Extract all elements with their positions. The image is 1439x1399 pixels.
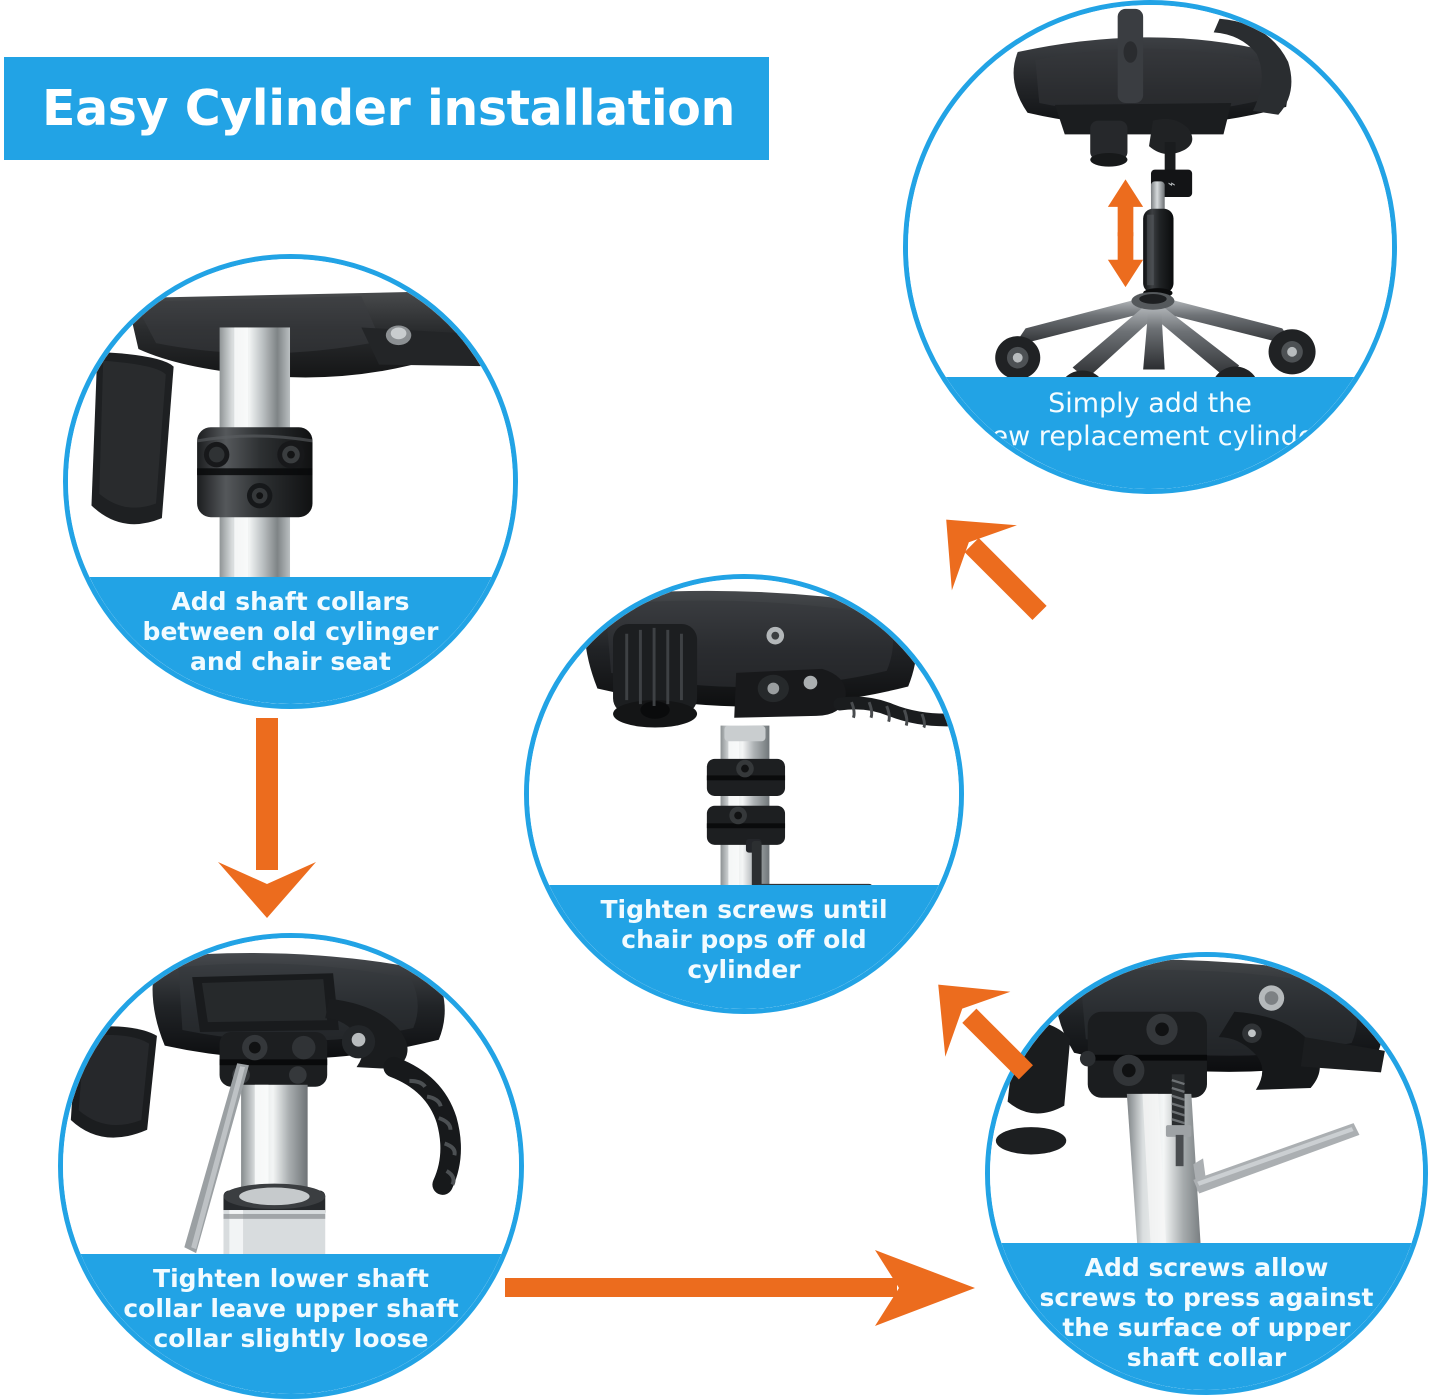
caption-line: Add shaft collars: [171, 587, 409, 617]
caption-add-collars: Add shaft collars between old cylinger a…: [63, 577, 518, 709]
caption-line: screws to press against: [1040, 1283, 1374, 1313]
caption-lower-collar: Tighten lower shaft collar leave upper s…: [58, 1254, 524, 1399]
caption-line: collar leave upper shaft: [123, 1294, 458, 1324]
infographic-canvas: Easy Cylinder installation: [0, 0, 1439, 1399]
caption-line: new replacement cylinder: [974, 420, 1325, 453]
caption-line: collar slightly loose: [153, 1324, 428, 1354]
caption-line: Tighten screws until: [600, 895, 887, 925]
caption-line: shaft collar: [1127, 1343, 1286, 1373]
caption-line: cylinder: [687, 955, 800, 985]
svg-text:⌁: ⌁: [1168, 177, 1176, 192]
caption-new-cylinder: Simply add the new replacement cylinder: [903, 377, 1397, 494]
arrow-right-step2-to-step3: [505, 1248, 985, 1330]
caption-line: Add screws allow: [1085, 1253, 1329, 1283]
page-title: Easy Cylinder installation: [4, 84, 735, 133]
step-panel-tighten-screws: Tighten screws until chair pops off old …: [524, 574, 964, 1014]
arrow-up-right-step4-to-step5: [930, 505, 1060, 630]
step-panel-new-cylinder: ⌁: [903, 0, 1397, 494]
caption-line: Tighten lower shaft: [153, 1264, 429, 1294]
caption-add-screws: Add screws allow screws to press against…: [985, 1243, 1428, 1395]
arrow-up-left-step3-to-step4: [898, 955, 1053, 1085]
caption-line: and chair seat: [190, 647, 391, 677]
step-panel-lower-collar: Tighten lower shaft collar leave upper s…: [58, 933, 524, 1399]
step-panel-add-collars: Add shaft collars between old cylinger a…: [63, 254, 518, 709]
caption-line: between old cylinger: [143, 617, 439, 647]
caption-line: Simply add the: [1048, 387, 1252, 420]
title-banner: Easy Cylinder installation: [4, 57, 769, 160]
caption-line: the surface of upper: [1062, 1313, 1350, 1343]
arrow-down-step1-to-step2: [196, 718, 341, 918]
caption-line: chair pops off old: [621, 925, 866, 955]
